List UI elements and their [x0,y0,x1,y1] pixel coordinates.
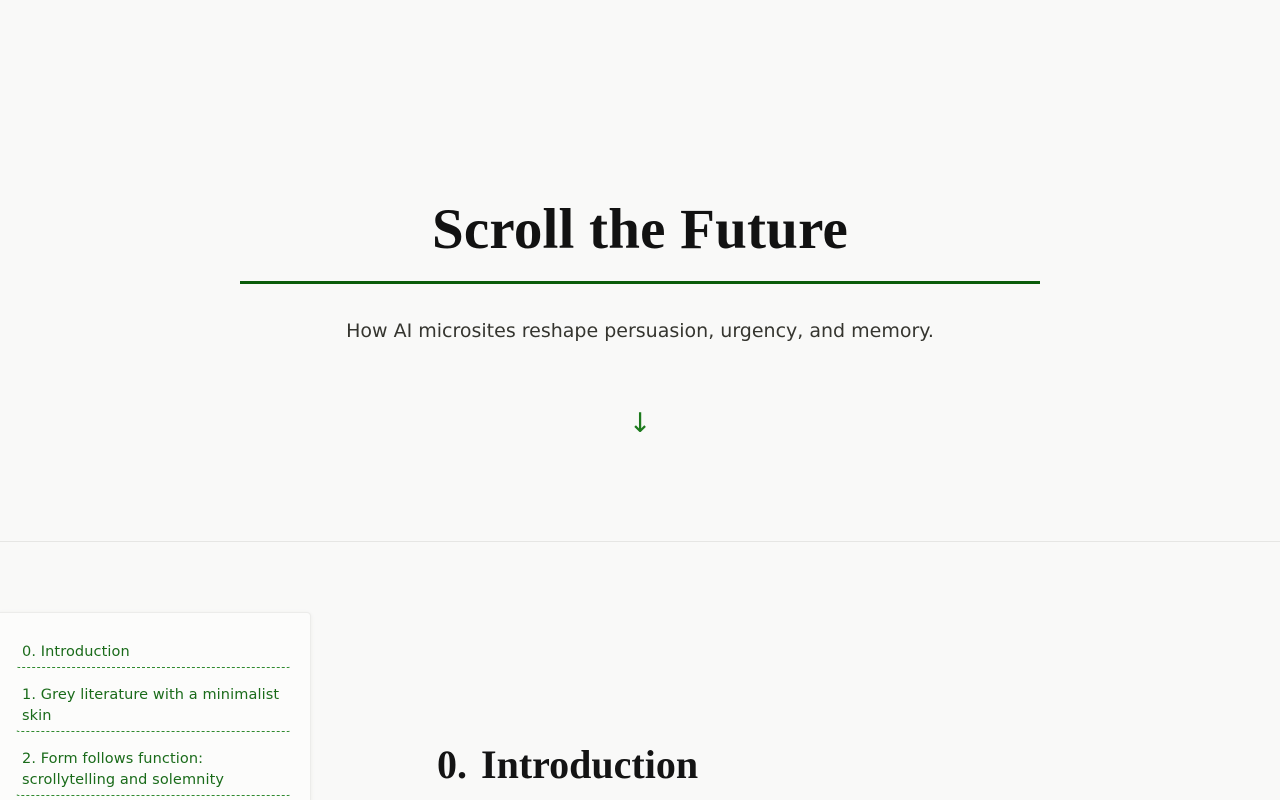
page-title: Scroll the Future [0,196,1280,264]
hero-section: Scroll the Future How AI microsites resh… [0,0,1280,542]
page-subtitle: How AI microsites reshape persuasion, ur… [0,318,1280,345]
body-section: 0. Introduction 1. Grey literature with … [0,543,1280,800]
toc-item-1[interactable]: 1. Grey literature with a minimalist ski… [15,684,292,732]
title-divider [240,281,1040,284]
sidebar-item-grey-literature[interactable]: 1. Grey literature with a minimalist ski… [22,685,287,727]
toc-item-2[interactable]: 2. Form follows function: scrollytelling… [15,748,292,796]
section-heading: 0.Introduction [437,738,698,792]
sidebar-item-introduction[interactable]: 0. Introduction [22,642,287,663]
sidebar-item-form-follows-function[interactable]: 2. Form follows function: scrollytelling… [22,749,287,791]
arrow-down-icon[interactable]: ↓ [0,406,1280,442]
page-root: Scroll the Future How AI microsites resh… [0,0,1280,800]
table-of-contents-panel: 0. Introduction 1. Grey literature with … [0,612,311,800]
toc-item-0[interactable]: 0. Introduction [15,641,292,668]
section-title: Introduction [481,742,698,787]
toc-list: 0. Introduction 1. Grey literature with … [15,641,292,800]
section-number: 0. [437,742,467,787]
